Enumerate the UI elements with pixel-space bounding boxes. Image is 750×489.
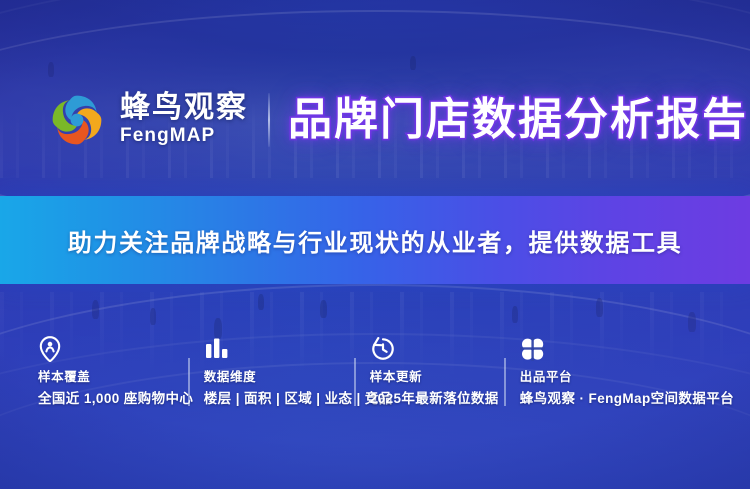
bar-chart-icon: [204, 336, 370, 362]
stat-value: 蜂鸟观察 · FengMap空间数据平台: [520, 391, 734, 408]
header-divider: [268, 93, 270, 147]
brand-text-block: 蜂鸟观察 FengMAP: [120, 92, 248, 147]
brand-name-cn: 蜂鸟观察: [120, 92, 248, 124]
report-cover-poster: 蜂鸟观察 FengMAP 品牌门店数据分析报告 助力关注品牌战略与行业现状的从业…: [0, 0, 750, 489]
history-clock-icon: [370, 336, 520, 362]
stat-label: 出品平台: [520, 370, 734, 386]
stat-label: 数据维度: [204, 370, 370, 386]
stat-label: 样本覆盖: [38, 370, 204, 386]
stat-item-sample-coverage: 样本覆盖 全国近 1,000 座购物中心: [38, 336, 204, 408]
tagline-banner: 助力关注品牌战略与行业现状的从业者，提供数据工具: [0, 196, 750, 284]
stat-separator: [504, 358, 506, 406]
poster-header: 蜂鸟观察 FengMAP 品牌门店数据分析报告: [0, 84, 750, 156]
location-person-pin-icon: [38, 336, 204, 362]
tagline-text: 助力关注品牌战略与行业现状的从业者，提供数据工具: [68, 223, 682, 258]
stat-label: 样本更新: [370, 370, 520, 386]
stat-value: 楼层 | 面积 | 区域 | 业态 | 竞品: [204, 391, 370, 408]
stat-item-publisher: 出品平台 蜂鸟观察 · FengMap空间数据平台: [520, 336, 734, 408]
stats-row: 样本覆盖 全国近 1,000 座购物中心 数据维度 楼层 | 面积 | 区域 |…: [0, 336, 750, 416]
brand-lockup: 蜂鸟观察 FengMAP: [48, 91, 248, 149]
page-title: 品牌门店数据分析报告: [288, 98, 748, 142]
four-petal-clover-icon: [520, 336, 734, 362]
stat-value: 全国近 1,000 座购物中心: [38, 391, 204, 408]
stat-value: 2025年最新落位数据: [370, 391, 520, 408]
stat-separator: [188, 358, 190, 406]
stat-item-data-dimensions: 数据维度 楼层 | 面积 | 区域 | 业态 | 竞品: [204, 336, 370, 408]
brand-name-en: FengMAP: [120, 125, 248, 147]
stat-item-sample-update: 样本更新 2025年最新落位数据: [370, 336, 520, 408]
fengmap-pinwheel-logo-icon: [48, 91, 106, 149]
stat-separator: [354, 358, 356, 406]
